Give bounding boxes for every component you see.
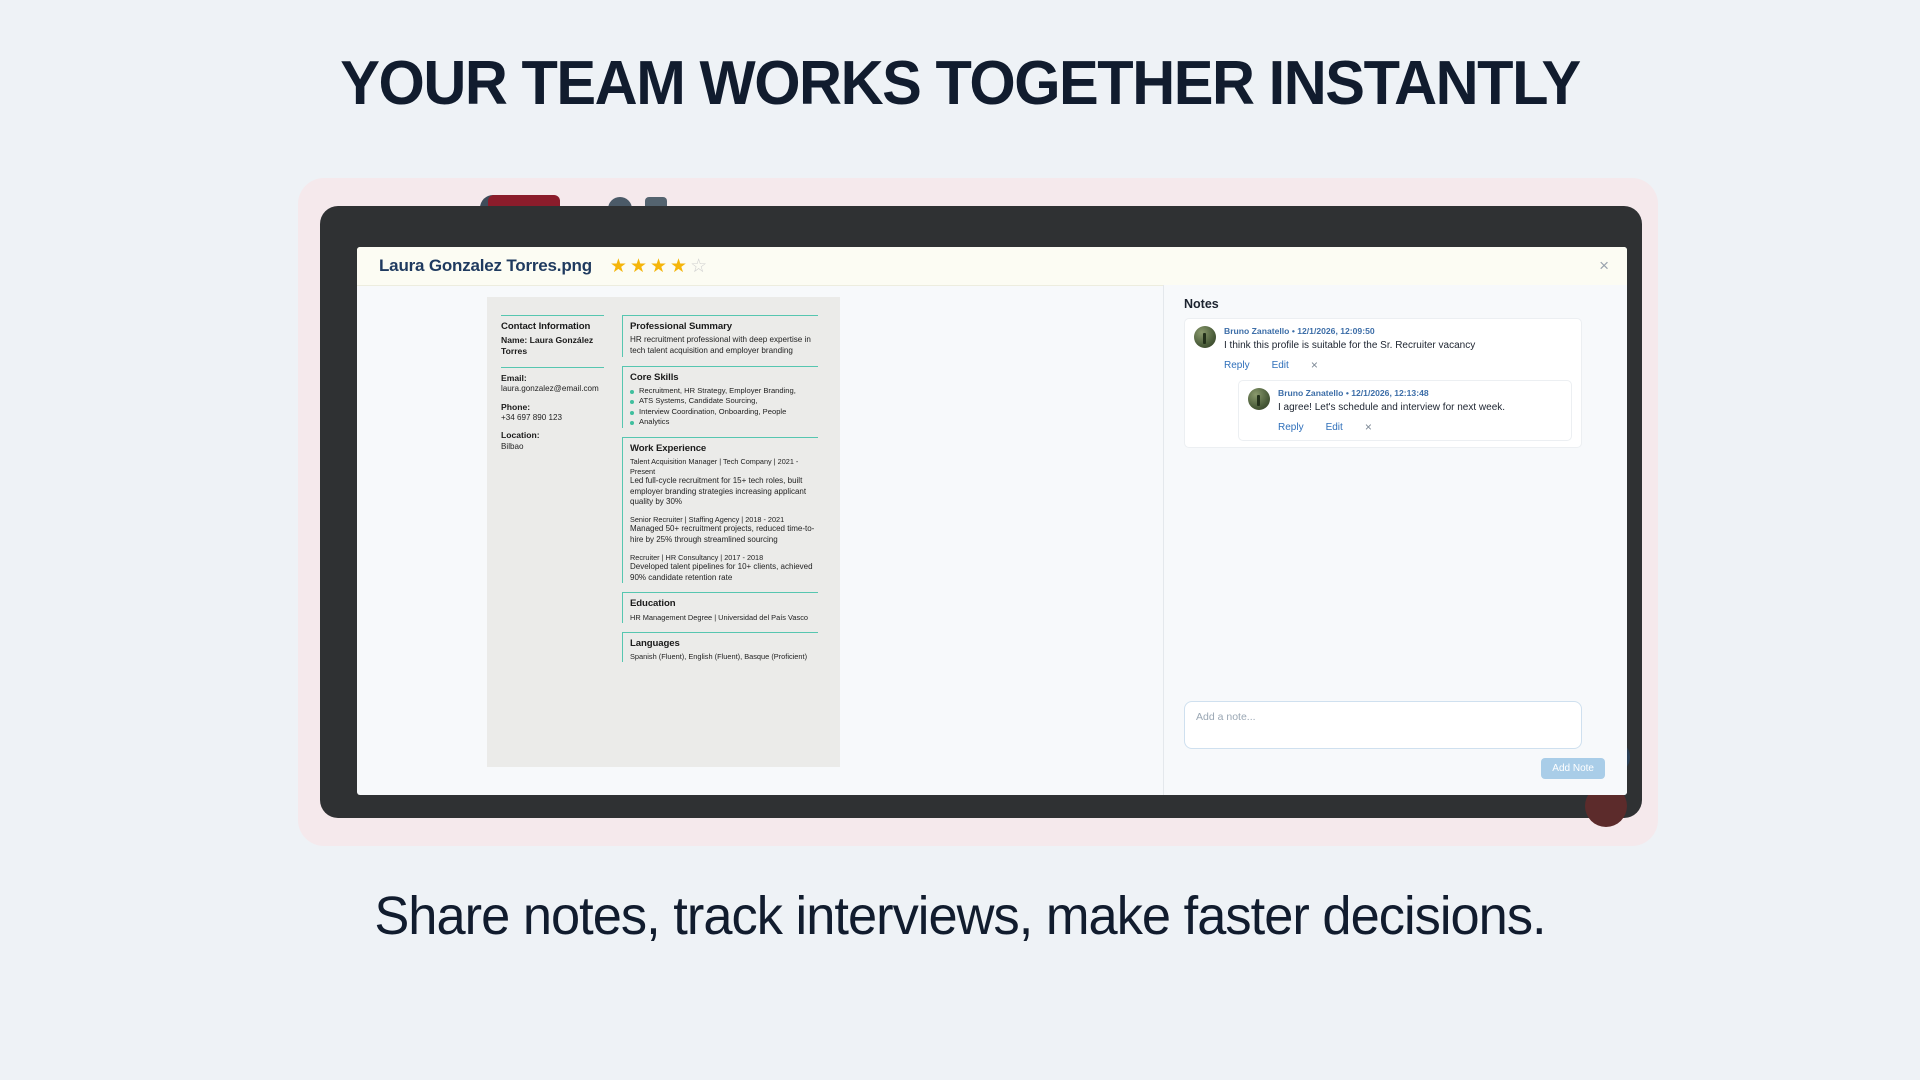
work-heading: Work Experience <box>630 443 818 454</box>
resume-document: Contact Information Name: Laura González… <box>487 297 840 767</box>
edit-button[interactable]: Edit <box>1272 360 1289 371</box>
education-block: Education HR Management Degree | Univers… <box>622 592 818 622</box>
work-entry-desc: Managed 50+ recruitment projects, reduce… <box>630 524 818 545</box>
languages-text: Spanish (Fluent), English (Fluent), Basq… <box>630 652 818 662</box>
languages-heading: Languages <box>630 638 818 649</box>
contact-details-block: Email: laura.gonzalez@email.com Phone: +… <box>501 367 604 453</box>
phone-value: +34 697 890 123 <box>501 413 604 424</box>
list-item: Interview Coordination, Onboarding, Peop… <box>630 407 818 417</box>
avatar <box>1194 326 1216 348</box>
modal-header: Laura Gonzalez Torres.png ★ ★ ★ ★ ☆ × <box>357 247 1627 286</box>
note-separator: • <box>1346 388 1349 398</box>
close-icon[interactable]: × <box>1599 256 1609 276</box>
page-caption: Share notes, track interviews, make fast… <box>29 885 1891 947</box>
core-skills-list: Recruitment, HR Strategy, Employer Brand… <box>630 386 818 428</box>
reply-button[interactable]: Reply <box>1278 422 1304 433</box>
core-skills-heading: Core Skills <box>630 372 818 383</box>
work-entry-header: Recruiter | HR Consultancy | 2017 - 2018 <box>630 553 818 562</box>
note-composer-input[interactable]: Add a note... <box>1184 701 1582 749</box>
star-icon-5[interactable]: ☆ <box>690 257 707 276</box>
note-timestamp: 12/1/2026, 12:09:50 <box>1297 326 1374 336</box>
note-separator: • <box>1292 326 1295 336</box>
note-actions: Reply Edit × <box>1278 420 1562 434</box>
note-meta: Bruno Zanatello • 12/1/2026, 12:13:48 <box>1278 388 1562 398</box>
list-item: ATS Systems, Candidate Sourcing, <box>630 396 818 406</box>
edit-button[interactable]: Edit <box>1326 422 1343 433</box>
add-note-button[interactable]: Add Note <box>1541 758 1605 779</box>
phone-label: Phone: <box>501 402 604 413</box>
work-entry: Recruiter | HR Consultancy | 2017 - 2018… <box>630 553 818 584</box>
note-card: Bruno Zanatello • 12/1/2026, 12:09:50 I … <box>1184 318 1582 448</box>
languages-block: Languages Spanish (Fluent), English (Flu… <box>622 632 818 662</box>
note-text: I agree! Let's schedule and interview fo… <box>1278 401 1562 414</box>
avatar <box>1248 388 1270 410</box>
delete-icon[interactable]: × <box>1365 420 1372 434</box>
note-author: Bruno Zanatello <box>1224 326 1289 336</box>
modal-body: Contact Information Name: Laura González… <box>357 285 1627 795</box>
note-author: Bruno Zanatello <box>1278 388 1343 398</box>
star-icon-4[interactable]: ★ <box>670 257 687 276</box>
note-actions: Reply Edit × <box>1224 358 1572 372</box>
rating-stars[interactable]: ★ ★ ★ ★ ☆ <box>610 257 707 276</box>
star-icon-1[interactable]: ★ <box>610 257 627 276</box>
note-reply-card: Bruno Zanatello • 12/1/2026, 12:13:48 I … <box>1238 380 1572 441</box>
notes-title: Notes <box>1184 297 1219 311</box>
note-meta: Bruno Zanatello • 12/1/2026, 12:09:50 <box>1224 326 1572 336</box>
work-entry-desc: Led full-cycle recruitment for 15+ tech … <box>630 476 818 508</box>
page-headline: YOUR TEAM WORKS TOGETHER INSTANTLY <box>38 48 1881 119</box>
notes-pane: Notes Bruno Zanatello • 12/1/2026, 12:09… <box>1164 285 1627 795</box>
summary-heading: Professional Summary <box>630 321 818 332</box>
contact-heading: Contact Information <box>501 321 604 332</box>
education-heading: Education <box>630 598 818 609</box>
work-experience-block: Work Experience Talent Acquisition Manag… <box>622 437 818 584</box>
professional-summary-block: Professional Summary HR recruitment prof… <box>622 315 818 357</box>
work-entry-header: Senior Recruiter | Staffing Agency | 201… <box>630 515 818 524</box>
work-entry: Talent Acquisition Manager | Tech Compan… <box>630 457 818 508</box>
list-item: Analytics <box>630 417 818 427</box>
work-entry-header: Talent Acquisition Manager | Tech Compan… <box>630 457 818 476</box>
note-timestamp: 12/1/2026, 12:13:48 <box>1351 388 1428 398</box>
email-value: laura.gonzalez@email.com <box>501 384 604 395</box>
work-entry: Senior Recruiter | Staffing Agency | 201… <box>630 515 818 546</box>
file-name-title: Laura Gonzalez Torres.png <box>379 256 592 276</box>
email-label: Email: <box>501 373 604 384</box>
reply-button[interactable]: Reply <box>1224 360 1250 371</box>
note-text: I think this profile is suitable for the… <box>1224 339 1572 352</box>
contact-name: Name: Laura González Torres <box>501 335 604 357</box>
contact-information-block: Contact Information Name: Laura González… <box>501 315 604 358</box>
list-item: Recruitment, HR Strategy, Employer Brand… <box>630 386 818 396</box>
education-text: HR Management Degree | Universidad del P… <box>630 613 818 623</box>
summary-text: HR recruitment professional with deep ex… <box>630 335 818 356</box>
star-icon-3[interactable]: ★ <box>650 257 667 276</box>
location-value: Bilbao <box>501 442 604 453</box>
star-icon-2[interactable]: ★ <box>630 257 647 276</box>
resume-preview-pane: Contact Information Name: Laura González… <box>357 285 1163 795</box>
work-entry-desc: Developed talent pipelines for 10+ clien… <box>630 562 818 583</box>
core-skills-block: Core Skills Recruitment, HR Strategy, Em… <box>622 366 818 428</box>
app-screen: Laura Gonzalez Torres.png ★ ★ ★ ★ ☆ × Co… <box>357 247 1627 795</box>
delete-icon[interactable]: × <box>1311 358 1318 372</box>
resume-contact-column: Contact Information Name: Laura González… <box>501 315 612 671</box>
location-label: Location: <box>501 430 604 441</box>
resume-main-column: Professional Summary HR recruitment prof… <box>612 315 818 671</box>
